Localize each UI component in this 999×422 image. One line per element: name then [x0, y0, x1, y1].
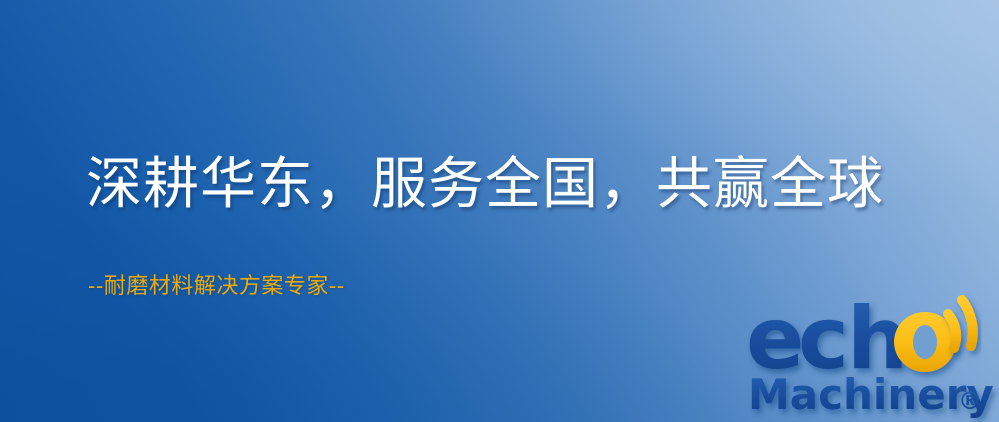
headline-text: 深耕华东，服务全国，共赢全球 — [86, 155, 884, 215]
echo-wave-arcs-icon — [948, 300, 973, 348]
logo-tagline-group: Machinery ® — [748, 370, 994, 419]
promotional-banner: 深耕华东，服务全国，共赢全球 --耐磨材料解决方案专家-- — [0, 0, 999, 422]
logo-svg: e c h Machinery ® — [742, 292, 999, 422]
echo-machinery-logo: e c h Machinery ® — [742, 292, 999, 422]
logo-letter-o-gold — [894, 312, 956, 372]
logo-tagline: Machinery — [748, 370, 994, 419]
subtitle-text: --耐磨材料解决方案专家-- — [88, 268, 345, 300]
registered-trademark-mark: ® — [958, 387, 982, 415]
